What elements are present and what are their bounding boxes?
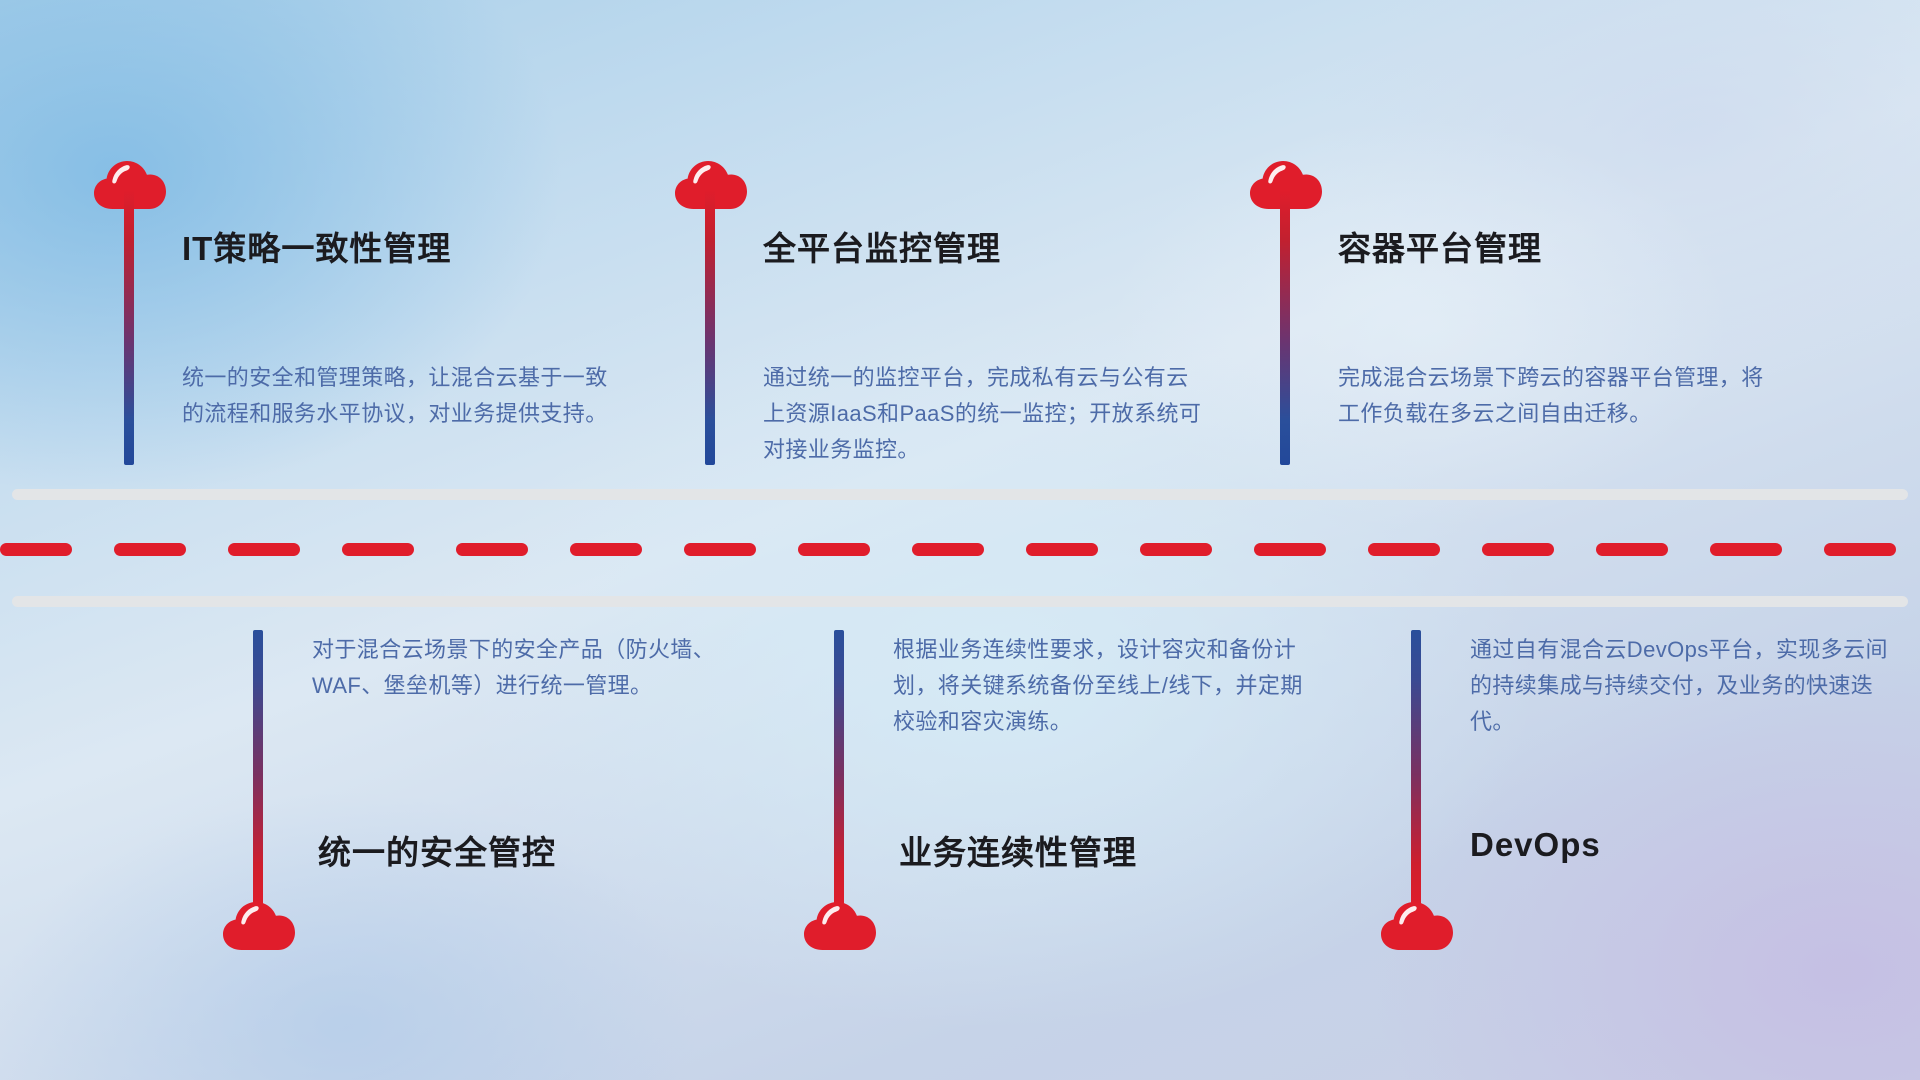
road-rail-top xyxy=(12,489,1908,500)
road-dash xyxy=(798,543,870,556)
pillar-title: IT策略一致性管理 xyxy=(182,222,451,270)
pillar-title: 全平台监控管理 xyxy=(763,222,1001,270)
stem-connector xyxy=(124,190,134,465)
road-dash xyxy=(456,543,528,556)
pillar-description: 统一的安全和管理策略，让混合云基于一致的流程和服务水平协议，对业务提供支持。 xyxy=(182,360,612,432)
road-dash xyxy=(228,543,300,556)
pillar-description: 根据业务连续性要求，设计容灾和备份计划，将关键系统备份至线上/线下，并定期校验和… xyxy=(893,632,1323,740)
pillar-description: 对于混合云场景下的安全产品（防火墙、WAF、堡垒机等）进行统一管理。 xyxy=(312,632,742,704)
pillar-title: 容器平台管理 xyxy=(1338,222,1542,270)
road-dash xyxy=(342,543,414,556)
stem-connector xyxy=(834,630,844,910)
pillar-description: 通过统一的监控平台，完成私有云与公有云上资源IaaS和PaaS的统一监控；开放系… xyxy=(763,360,1203,468)
stem-connector xyxy=(1280,190,1290,465)
cloud-icon xyxy=(221,896,295,952)
stem-connector xyxy=(705,190,715,465)
road-dash xyxy=(1710,543,1782,556)
pillar-title: 业务连续性管理 xyxy=(899,826,1137,874)
road-rail-bottom xyxy=(12,596,1908,607)
road-divider xyxy=(0,489,1920,607)
road-dash-line xyxy=(0,543,1920,556)
road-dash xyxy=(570,543,642,556)
pillar-title: 统一的安全管控 xyxy=(318,826,556,874)
road-dash xyxy=(684,543,756,556)
cloud-icon xyxy=(1379,896,1453,952)
road-dash xyxy=(1140,543,1212,556)
road-dash xyxy=(912,543,984,556)
stem-connector xyxy=(1411,630,1421,910)
road-dash xyxy=(1482,543,1554,556)
road-dash xyxy=(1596,543,1668,556)
road-dash xyxy=(1026,543,1098,556)
pillar-title: DevOps xyxy=(1470,826,1601,864)
cloud-icon xyxy=(802,896,876,952)
road-dash xyxy=(0,543,72,556)
road-dash xyxy=(114,543,186,556)
road-dash xyxy=(1368,543,1440,556)
road-dash xyxy=(1824,543,1896,556)
stem-connector xyxy=(253,630,263,910)
pillar-description: 通过自有混合云DevOps平台，实现多云间的持续集成与持续交付，及业务的快速迭代… xyxy=(1470,632,1900,740)
road-dash xyxy=(1254,543,1326,556)
pillar-description: 完成混合云场景下跨云的容器平台管理，将工作负载在多云之间自由迁移。 xyxy=(1338,360,1778,432)
